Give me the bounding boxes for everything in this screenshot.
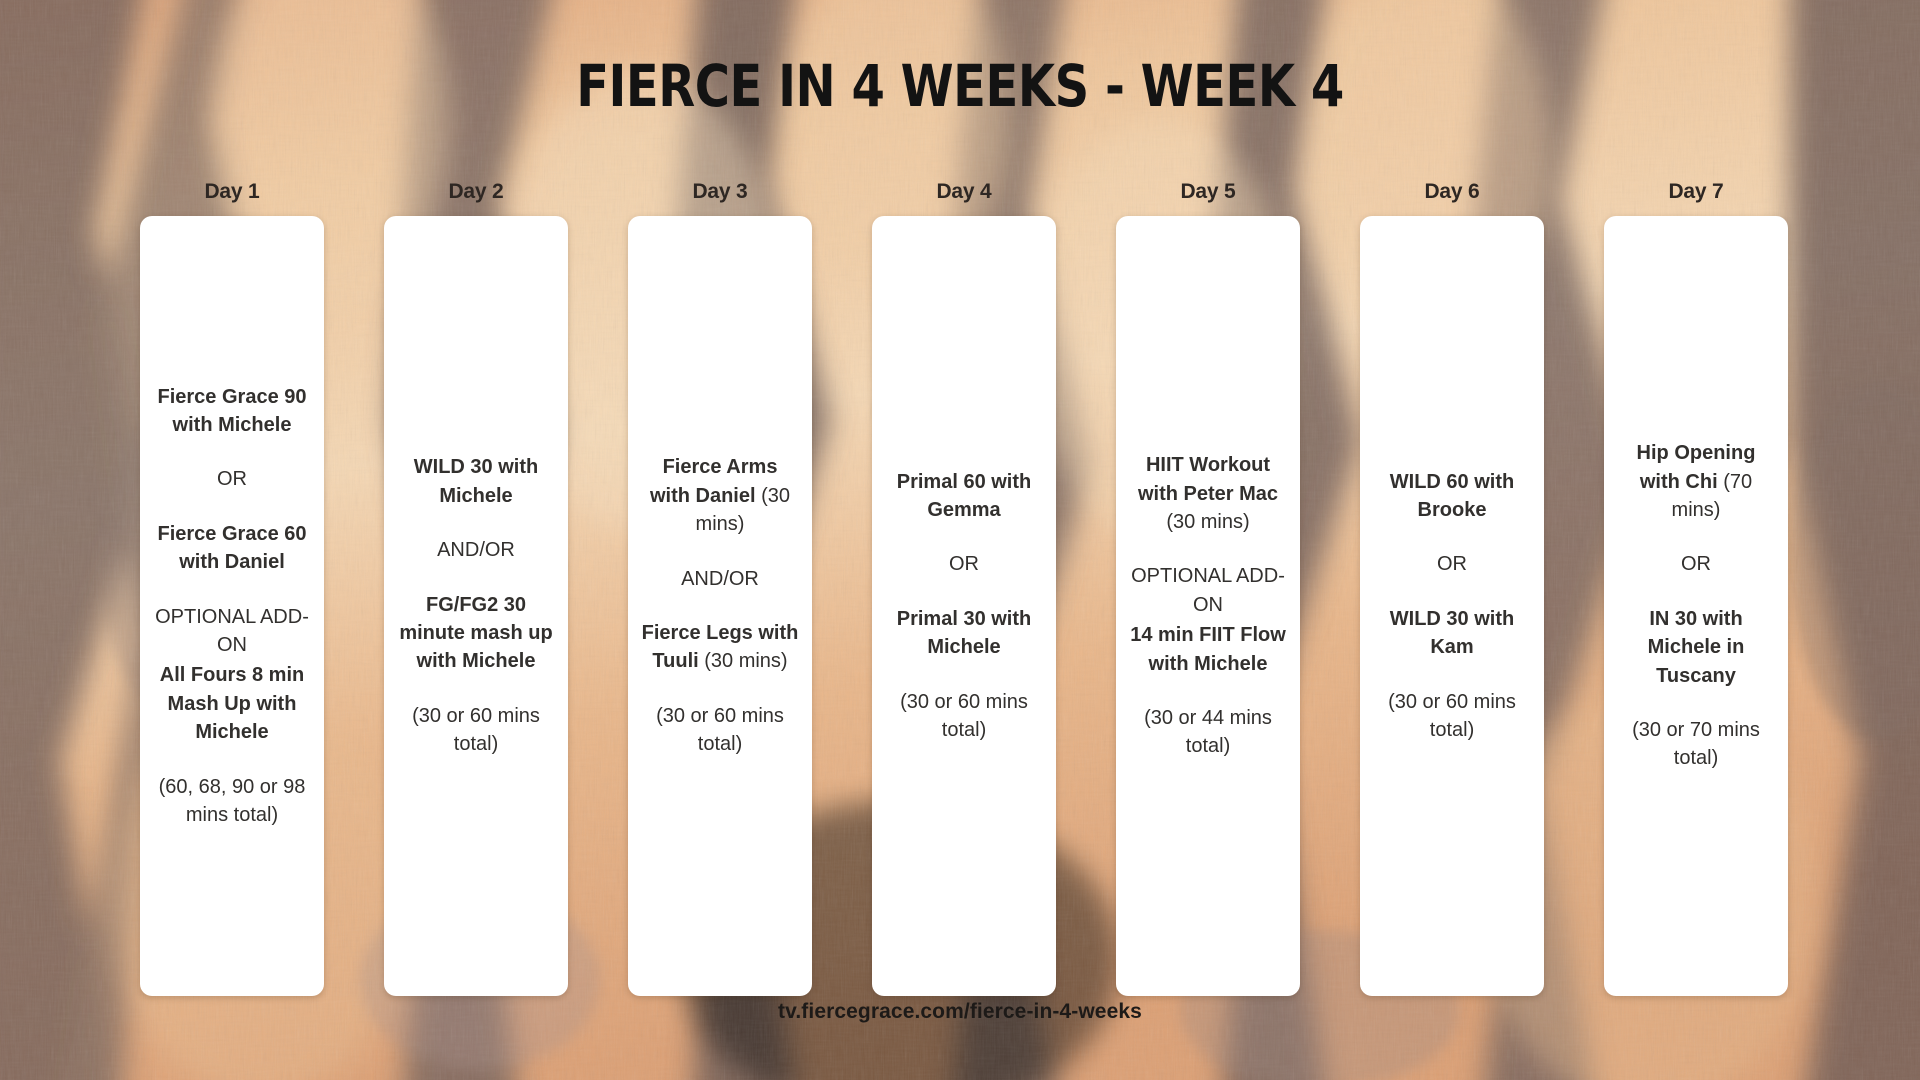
connector-text: AND/OR <box>681 568 759 590</box>
card-line: OR <box>152 465 312 493</box>
connector-text: OR <box>949 553 979 575</box>
card-line: HIIT Workout with Peter Mac (30 mins) <box>1128 451 1288 536</box>
card-line: WILD 60 with Brooke <box>1372 468 1532 525</box>
card-line: Fierce Grace 90 with Michele <box>152 383 312 440</box>
connector-text: (60, 68, 90 or 98 mins total) <box>159 776 306 826</box>
day-label: Day 5 <box>1180 180 1235 204</box>
class-duration: (30 mins) <box>1166 511 1249 533</box>
class-name: Primal 60 with Gemma <box>897 471 1032 521</box>
day-column: Day 1Fierce Grace 90 with MicheleORFierc… <box>140 180 324 996</box>
card-line: (60, 68, 90 or 98 mins total) <box>152 773 312 830</box>
day-column: Day 7Hip Opening with Chi (70 mins)ORIN … <box>1604 180 1788 996</box>
class-name: FG/FG2 30 minute mash up with Michele <box>399 594 552 673</box>
card-line: AND/OR <box>396 536 556 564</box>
week-schedule-grid: Day 1Fierce Grace 90 with MicheleORFierc… <box>140 180 1788 996</box>
class-name: Primal 30 with Michele <box>897 608 1032 658</box>
day-card: HIIT Workout with Peter Mac (30 mins)OPT… <box>1116 216 1300 996</box>
connector-text: (30 or 60 mins total) <box>412 705 540 755</box>
day-card: Fierce Arms with Daniel (30 mins)AND/ORF… <box>628 216 812 996</box>
day-card: Primal 60 with GemmaORPrimal 30 with Mic… <box>872 216 1056 996</box>
class-name: WILD 60 with Brooke <box>1390 471 1514 521</box>
card-line: OPTIONAL ADD-ON <box>152 603 312 660</box>
day-card: WILD 60 with BrookeORWILD 30 with Kam(30… <box>1360 216 1544 996</box>
class-name: All Fours 8 min Mash Up with Michele <box>160 664 304 743</box>
connector-text: OPTIONAL ADD-ON <box>155 606 309 656</box>
connector-text: (30 or 60 mins total) <box>656 705 784 755</box>
connector-text: (30 or 70 mins total) <box>1632 719 1760 769</box>
card-line: FG/FG2 30 minute mash up with Michele <box>396 591 556 676</box>
card-line: Fierce Arms with Daniel (30 mins) <box>640 453 800 538</box>
page-title: FIERCE IN 4 WEEKS - WEEK 4 <box>77 52 1843 120</box>
class-name: WILD 30 with Michele <box>414 456 538 506</box>
card-line: AND/OR <box>640 565 800 593</box>
day-label: Day 6 <box>1424 180 1479 204</box>
day-label: Day 4 <box>936 180 991 204</box>
card-line: 14 min FIIT Flow with Michele <box>1128 621 1288 678</box>
day-card: Fierce Grace 90 with MicheleORFierce Gra… <box>140 216 324 996</box>
card-line: Fierce Grace 60 with Daniel <box>152 520 312 577</box>
day-label: Day 2 <box>448 180 503 204</box>
connector-text: OR <box>217 468 247 490</box>
class-name: 14 min FIIT Flow with Michele <box>1130 624 1286 674</box>
card-line: WILD 30 with Kam <box>1372 605 1532 662</box>
card-line: (30 or 60 mins total) <box>884 688 1044 745</box>
card-line: OPTIONAL ADD-ON <box>1128 562 1288 619</box>
day-label: Day 7 <box>1668 180 1723 204</box>
card-line: Hip Opening with Chi (70 mins) <box>1616 439 1776 524</box>
day-column: Day 5HIIT Workout with Peter Mac (30 min… <box>1116 180 1300 996</box>
day-card: WILD 30 with MicheleAND/ORFG/FG2 30 minu… <box>384 216 568 996</box>
card-line: (30 or 60 mins total) <box>640 702 800 759</box>
card-line: Fierce Legs with Tuuli (30 mins) <box>640 619 800 676</box>
card-line: (30 or 60 mins total) <box>1372 688 1532 745</box>
class-name: IN 30 with Michele in Tuscany <box>1648 608 1745 687</box>
card-line: IN 30 with Michele in Tuscany <box>1616 605 1776 690</box>
connector-text: (30 or 44 mins total) <box>1144 707 1272 757</box>
card-line: OR <box>1616 550 1776 578</box>
class-name: WILD 30 with Kam <box>1390 608 1514 658</box>
day-column: Day 6WILD 60 with BrookeORWILD 30 with K… <box>1360 180 1544 996</box>
day-column: Day 2WILD 30 with MicheleAND/ORFG/FG2 30… <box>384 180 568 996</box>
card-line: (30 or 60 mins total) <box>396 702 556 759</box>
card-line: OR <box>884 550 1044 578</box>
card-line: Primal 60 with Gemma <box>884 468 1044 525</box>
footer-url: tv.fiercegrace.com/fierce-in-4-weeks <box>0 1000 1920 1024</box>
connector-text: AND/OR <box>437 539 515 561</box>
card-line: (30 or 44 mins total) <box>1128 704 1288 761</box>
card-line: WILD 30 with Michele <box>396 453 556 510</box>
day-column: Day 4Primal 60 with GemmaORPrimal 30 wit… <box>872 180 1056 996</box>
class-name: Fierce Grace 60 with Daniel <box>158 523 307 573</box>
card-line: Primal 30 with Michele <box>884 605 1044 662</box>
day-card: Hip Opening with Chi (70 mins)ORIN 30 wi… <box>1604 216 1788 996</box>
day-label: Day 1 <box>204 180 259 204</box>
card-line: All Fours 8 min Mash Up with Michele <box>152 661 312 746</box>
card-line: (30 or 70 mins total) <box>1616 716 1776 773</box>
connector-text: OR <box>1437 553 1467 575</box>
class-duration: (30 mins) <box>699 650 788 672</box>
connector-text: (30 or 60 mins total) <box>1388 691 1516 741</box>
connector-text: OPTIONAL ADD-ON <box>1131 565 1285 615</box>
connector-text: OR <box>1681 553 1711 575</box>
day-column: Day 3Fierce Arms with Daniel (30 mins)AN… <box>628 180 812 996</box>
day-label: Day 3 <box>692 180 747 204</box>
class-name: HIIT Workout with Peter Mac <box>1138 454 1278 504</box>
class-name: Fierce Grace 90 with Michele <box>158 386 307 436</box>
connector-text: (30 or 60 mins total) <box>900 691 1028 741</box>
card-line: OR <box>1372 550 1532 578</box>
